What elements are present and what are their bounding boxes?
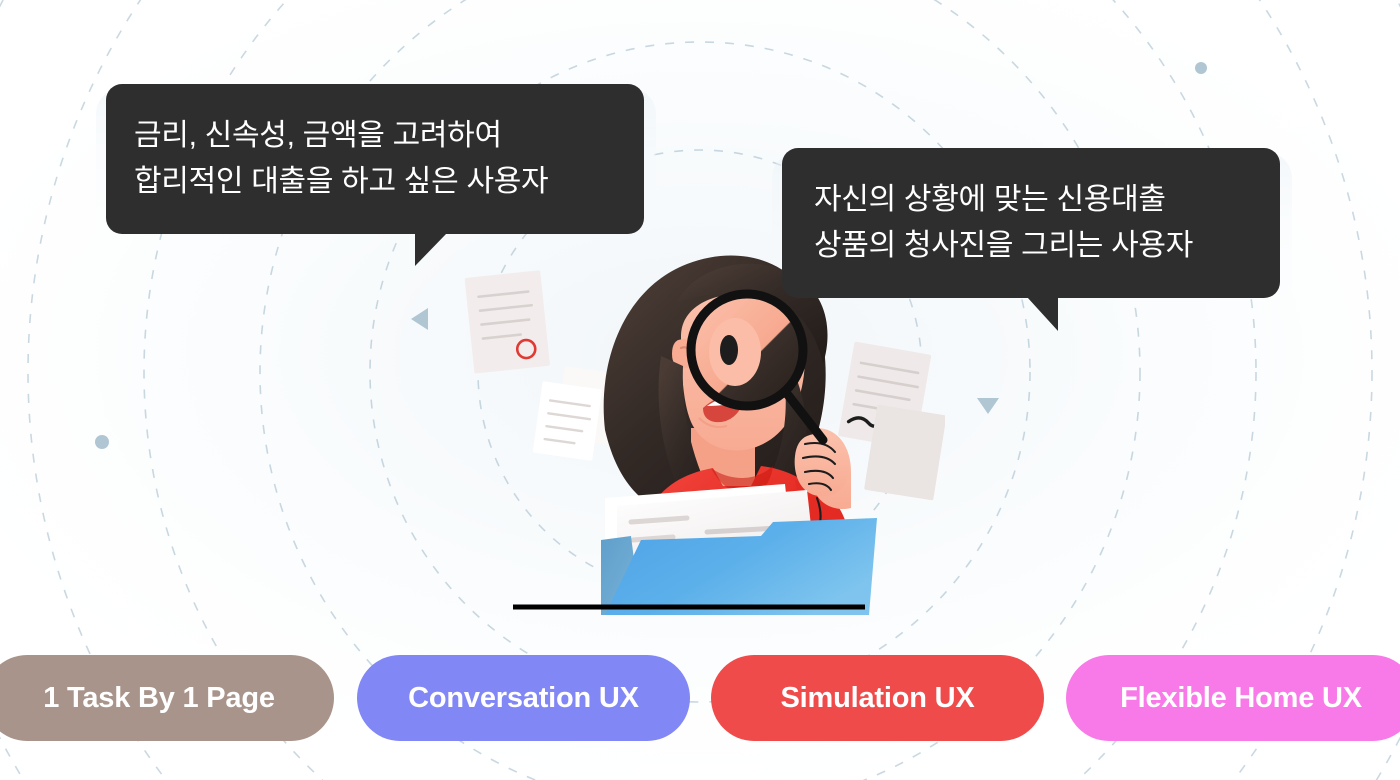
persona-bubble-right-tail xyxy=(1027,297,1058,331)
floating-doc-left xyxy=(464,270,550,373)
magnified-pupil xyxy=(720,335,738,365)
decor-dot-left xyxy=(95,435,109,449)
persona-bubble-left: 금리, 신속성, 금액을 고려하여 합리적인 대출을 하고 싶은 사용자 xyxy=(106,84,644,234)
bubble-right-line-2: 상품의 청사진을 그리는 사용자 xyxy=(814,223,1248,269)
decor-dot-top-right xyxy=(1195,62,1207,74)
bubble-right-line-1: 자신의 상황에 맞는 신용대출 xyxy=(814,177,1248,223)
bubble-left-line-1: 금리, 신속성, 금액을 고려하여 xyxy=(134,113,616,159)
persona-bubble-right: 자신의 상황에 맞는 신용대출 상품의 청사진을 그리는 사용자 xyxy=(782,148,1280,298)
pill-flexible-home-ux[interactable]: Flexible Home UX xyxy=(1066,655,1400,741)
floating-doc-right-front xyxy=(864,405,945,501)
persona-overview-canvas: 금리, 신속성, 금액을 고려하여 합리적인 대출을 하고 싶은 사용자 자신의… xyxy=(0,0,1400,780)
pill-1-task-by-1-page[interactable]: 1 Task By 1 Page xyxy=(0,655,334,741)
persona-bubble-left-tail xyxy=(415,233,447,266)
pill-simulation-ux[interactable]: Simulation UX xyxy=(711,655,1044,741)
bubble-left-line-2: 합리적인 대출을 하고 싶은 사용자 xyxy=(134,159,616,205)
feature-pill-row: 1 Task By 1 Page Conversation UX Simulat… xyxy=(0,655,1400,743)
pill-conversation-ux[interactable]: Conversation UX xyxy=(357,655,690,741)
